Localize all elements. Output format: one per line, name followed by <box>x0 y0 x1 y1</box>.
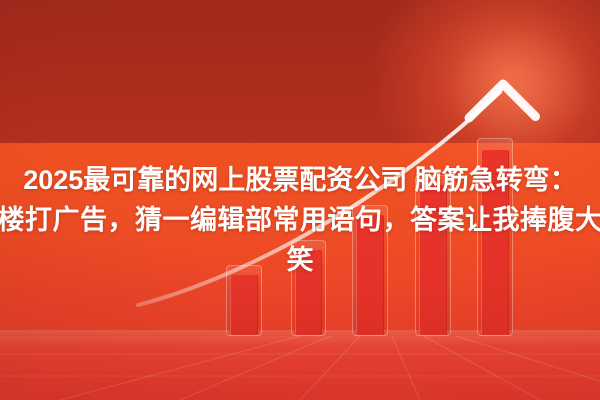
banner-headline: 2025最可靠的网上股票配资公司 脑筋急转弯： 青楼打广告，猜一编辑部常用语句，… <box>0 160 600 280</box>
headline-line-3: 笑 <box>0 240 600 280</box>
headline-line-1: 2025最可靠的网上股票配资公司 脑筋急转弯： <box>0 160 600 200</box>
headline-line-2: 青楼打广告，猜一编辑部常用语句，答案让我捧腹大笑 <box>0 200 600 240</box>
banner-image: 2025最可靠的网上股票配资公司 脑筋急转弯： 青楼打广告，猜一编辑部常用语句，… <box>0 0 600 400</box>
